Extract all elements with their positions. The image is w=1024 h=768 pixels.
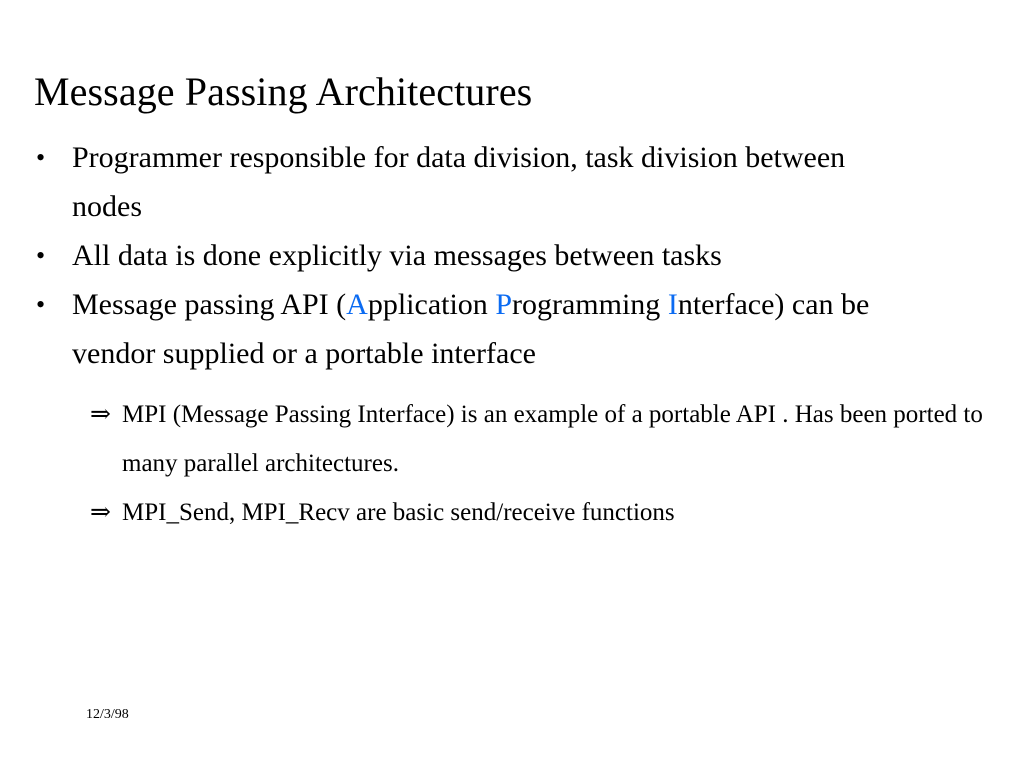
bullet-3-accent-a: A <box>346 288 368 321</box>
bullet-item-2: • All data is done explicitly via messag… <box>34 231 1002 280</box>
bullet-item-1-label: Programmer responsible for data division… <box>72 133 862 231</box>
bullet-item-3: • Message passing API (Application Progr… <box>34 280 872 378</box>
bullet-item-1: • Programmer responsible for data divisi… <box>34 133 862 231</box>
footer-date: 12/3/98 <box>86 706 129 724</box>
sub-bullet-item-2-label: MPI_Send, MPI_Recv are basic send/receiv… <box>122 499 675 526</box>
slide-canvas: Message Passing Architectures • Programm… <box>0 0 1024 768</box>
sub-bullet-item-1: ⇒ MPI (Message Passing Interface) is an … <box>90 390 1002 488</box>
sub-bullet-item-1-label: MPI (Message Passing Interface) is an ex… <box>122 401 983 477</box>
double-arrow-icon: ⇒ <box>90 488 111 537</box>
bullet-marker-icon: • <box>36 133 45 182</box>
bullet-marker-icon: • <box>36 231 45 280</box>
bullet-3-accent-i: I <box>668 288 678 321</box>
bullet-marker-icon: • <box>36 280 45 329</box>
sub-bullet-item-2: ⇒ MPI_Send, MPI_Recv are basic send/rece… <box>90 488 1002 537</box>
slide-body: • Programmer responsible for data divisi… <box>34 133 984 537</box>
page-title: Message Passing Architectures <box>34 69 974 115</box>
sub-bullet-list: ⇒ MPI (Message Passing Interface) is an … <box>34 390 984 537</box>
bullet-3-accent-p: P <box>495 288 512 321</box>
bullet-item-2-label: All data is done explicitly via messages… <box>72 231 1002 280</box>
bullet-3-prefix: Message passing API ( <box>72 288 346 321</box>
double-arrow-icon: ⇒ <box>90 390 111 439</box>
bullet-3-mid-2: rogramming <box>512 288 668 321</box>
bullet-item-3-label: Message passing API (Application Program… <box>72 280 872 378</box>
bullet-3-mid-1: pplication <box>368 288 495 321</box>
